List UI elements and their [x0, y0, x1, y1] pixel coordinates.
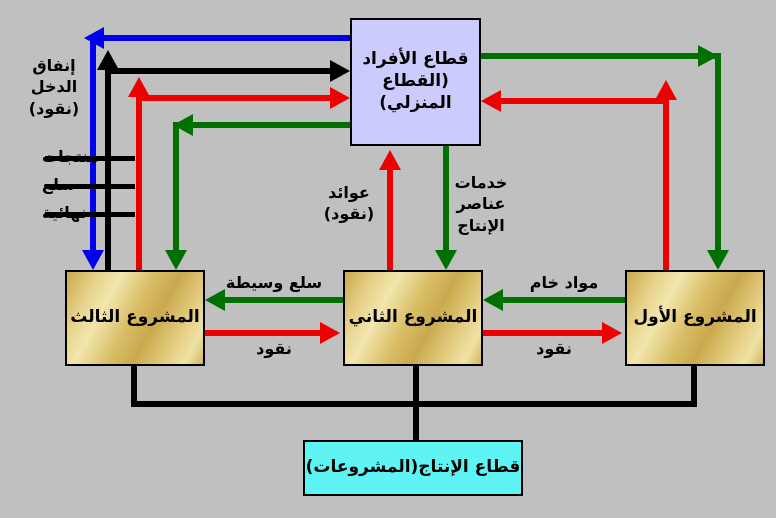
income-spending-line2: الدخل	[20, 76, 88, 97]
black-bus-stub-p3	[131, 366, 137, 406]
green-right-horizontal-line	[481, 53, 721, 59]
raw-materials-label: مواد خام	[508, 272, 620, 293]
green-raw-materials-arrowhead	[483, 289, 503, 311]
red-right-vertical-line	[663, 98, 669, 270]
red-right-arrowhead-left	[481, 90, 501, 112]
project-third-label: المشروع الثالث	[70, 307, 200, 329]
black-goods-horizontal-line	[105, 68, 333, 74]
project-third-box[interactable]: المشروع الثالث	[65, 270, 205, 366]
final-goods-label-line3: نهائية	[42, 202, 87, 223]
green-services-left-vertical-line	[173, 122, 179, 251]
red-money-left-horizontal-line	[136, 95, 333, 101]
money-right-label: نقود	[512, 338, 596, 359]
blue-income-arrowhead-left	[84, 27, 104, 49]
black-bus-stub-production	[413, 401, 419, 443]
blue-income-horizontal-line	[104, 35, 352, 41]
household-sector-label-line2: (القطاع المنزلي)	[352, 71, 479, 115]
red-money-left-vertical-line	[136, 95, 142, 270]
income-spending-label: إنفاق الدخل (نقود)	[20, 55, 88, 119]
returns-money-line2: (نقود)	[318, 203, 380, 224]
red-money-left-row-arrowhead	[320, 322, 340, 344]
green-services-left-arrowhead-down	[165, 250, 187, 270]
green-raw-materials-line	[503, 297, 625, 303]
black-bus-stub-p2	[413, 366, 419, 406]
production-sector-label: قطاع الإنتاج(المشروعات)	[306, 457, 521, 479]
black-bus-stub-p1	[691, 366, 697, 406]
returns-money-label: عوائد (نقود)	[318, 182, 380, 225]
red-money-right-row-arrowhead	[602, 322, 622, 344]
household-sector-label-line1: قطاع الأفراد	[352, 49, 479, 71]
green-right-arrowhead-right	[698, 45, 718, 67]
factor-services-line2: عناصر	[448, 193, 514, 214]
blue-income-vertical-line	[90, 35, 96, 251]
green-right-vertical-line	[715, 53, 721, 251]
project-first-box[interactable]: المشروع الأول	[625, 270, 765, 366]
red-returns-vertical-line	[387, 168, 393, 270]
returns-money-line1: عوائد	[318, 182, 380, 203]
income-spending-line3: (نقود)	[20, 98, 88, 119]
red-money-left-arrowhead-up	[128, 77, 150, 97]
factor-services-line3: الإنتاج	[448, 215, 514, 236]
red-money-right-row-line	[483, 330, 605, 336]
project-second-box[interactable]: المشروع الثاني	[343, 270, 483, 366]
project-second-label: المشروع الثاني	[349, 307, 478, 329]
green-services-left-arrowhead-left	[173, 114, 193, 136]
red-right-horizontal-line	[501, 98, 669, 104]
black-goods-vertical-line	[105, 68, 111, 270]
money-left-label: نقود	[232, 338, 316, 359]
final-goods-label-line1: منتجات	[42, 146, 99, 167]
red-money-left-row-line	[205, 330, 323, 336]
black-goods-arrowhead-up	[97, 50, 119, 70]
circular-flow-diagram: قطاع الأفراد (القطاع المنزلي) المشروع ال…	[0, 0, 776, 518]
factor-services-line1: خدمات	[448, 172, 514, 193]
red-right-arrowhead-up	[655, 80, 677, 100]
green-services-left-horizontal-line	[193, 122, 352, 128]
red-money-left-arrowhead-right	[330, 87, 350, 109]
income-spending-line1: إنفاق	[20, 55, 88, 76]
green-factor-services-arrowhead-down	[435, 250, 457, 270]
black-goods-arrowhead-right	[330, 60, 350, 82]
production-sector-box[interactable]: قطاع الإنتاج(المشروعات)	[303, 440, 523, 496]
green-right-arrowhead-down	[707, 250, 729, 270]
household-sector-box[interactable]: قطاع الأفراد (القطاع المنزلي)	[350, 18, 481, 146]
project-first-label: المشروع الأول	[633, 307, 756, 329]
red-returns-arrowhead-up	[379, 150, 401, 170]
factor-services-label: خدمات عناصر الإنتاج	[448, 172, 514, 236]
blue-income-arrowhead-down	[82, 250, 104, 270]
intermediate-goods-label: سلع وسيطة	[218, 272, 330, 293]
green-intermediate-goods-line	[225, 297, 343, 303]
final-goods-label-line2: سلع	[42, 174, 75, 195]
